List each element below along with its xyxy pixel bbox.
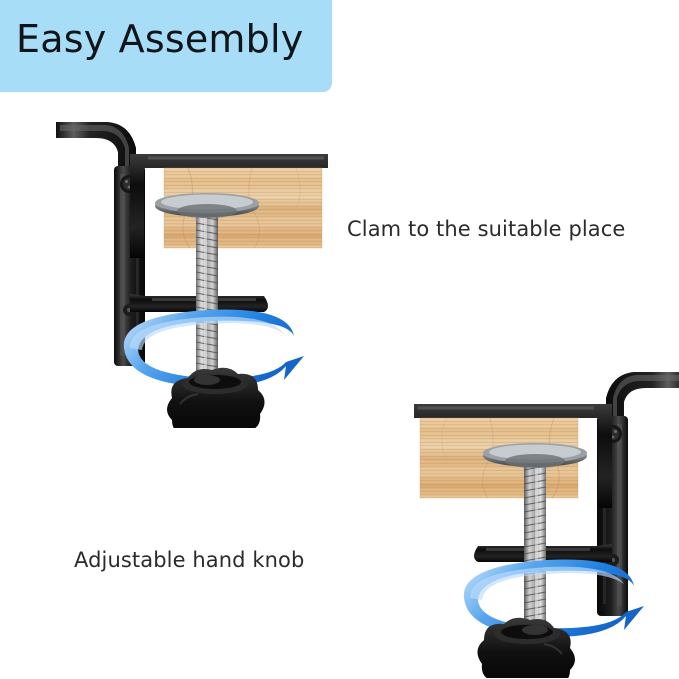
product-infographic: Easy Assembly — [0, 0, 679, 679]
threaded-screw-shaft — [524, 461, 546, 631]
clamp-assembly-right — [396, 358, 679, 678]
header-banner: Easy Assembly — [0, 0, 332, 92]
hand-knob — [477, 618, 575, 678]
clamp-assembly-left — [56, 108, 346, 428]
caption-adjustable-hand-knob: Adjustable hand knob — [74, 550, 304, 571]
page-title: Easy Assembly — [16, 20, 303, 58]
caption-clamp-to-suitable-place: Clam to the suitable place — [347, 219, 625, 240]
threaded-screw-shaft — [196, 211, 218, 381]
